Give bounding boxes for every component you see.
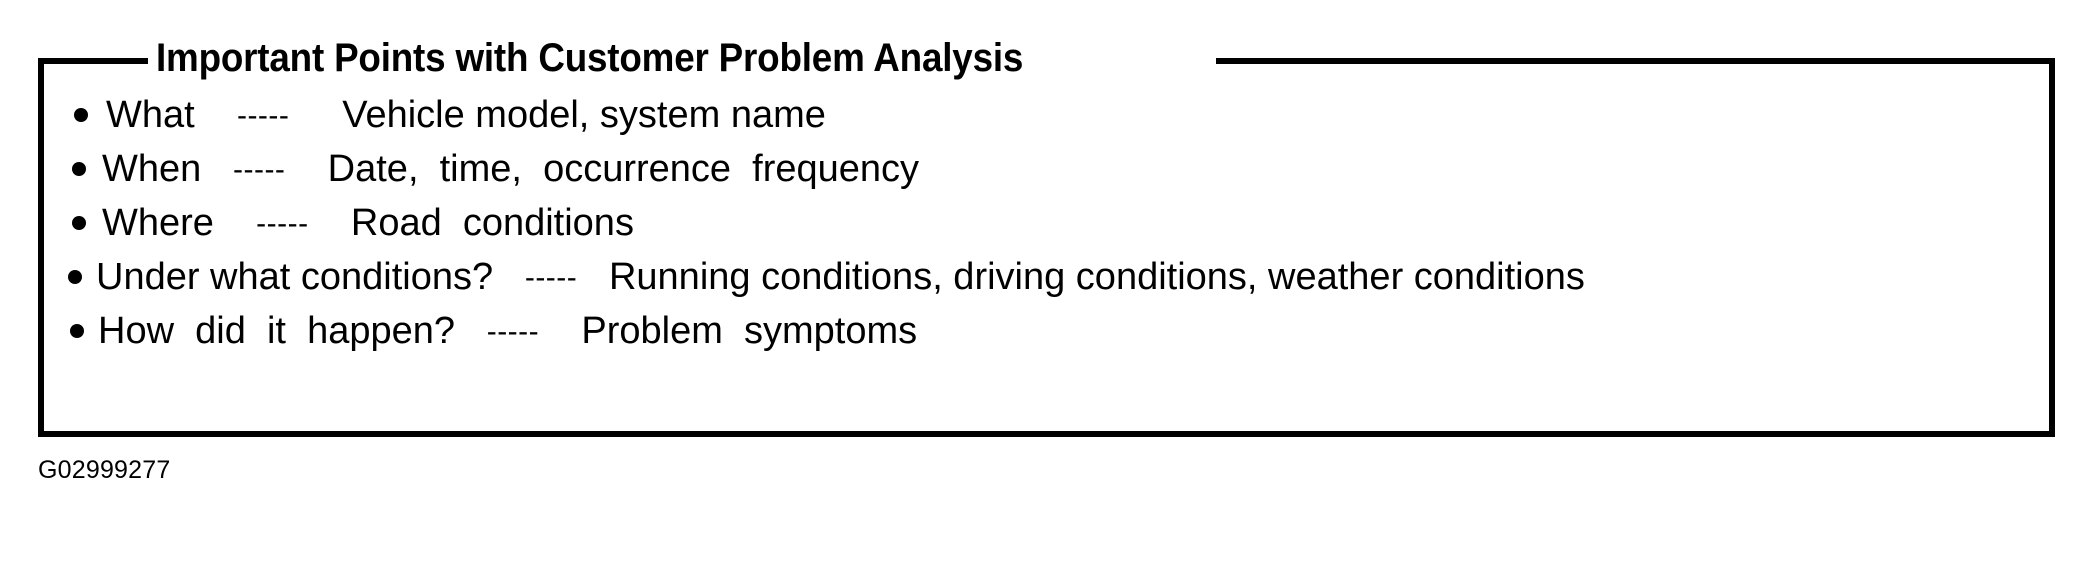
list-item: How did it happen? ----- Problem symptom… — [44, 304, 2049, 358]
point-description: Vehicle model, system name — [342, 88, 826, 142]
points-list: What ----- Vehicle model, system name Wh… — [44, 88, 2049, 358]
point-gap-before — [205, 88, 226, 142]
point-gap-before — [212, 142, 223, 196]
point-separator: ----- — [525, 251, 577, 305]
bullet-dot-icon — [68, 270, 82, 284]
point-term: Where — [44, 196, 214, 250]
bullet-dot-icon — [70, 324, 84, 338]
point-term: When — [44, 142, 201, 196]
point-gap-after — [319, 196, 340, 250]
list-item: Under what conditions? ----- Running con… — [44, 250, 2049, 304]
list-item: Where ----- Road conditions — [44, 196, 2049, 250]
panel-top-border-left-segment — [44, 58, 148, 64]
point-gap-after — [300, 88, 332, 142]
point-gap-before — [504, 250, 515, 304]
point-gap-after — [588, 250, 599, 304]
point-gap-after — [296, 142, 317, 196]
bullet-dot-icon — [72, 216, 86, 230]
point-separator: ----- — [237, 89, 289, 143]
point-separator: ----- — [256, 197, 308, 251]
point-term: What — [44, 88, 195, 142]
panel-top-border-right-segment — [1216, 58, 2049, 64]
point-gap-before — [466, 304, 477, 358]
panel-title: Important Points with Customer Problem A… — [156, 32, 1127, 84]
point-gap-after — [550, 304, 571, 358]
point-separator: ----- — [487, 305, 539, 359]
bullet-dot-icon — [72, 162, 86, 176]
figure-important-points: Important Points with Customer Problem A… — [0, 0, 2095, 561]
point-separator: ----- — [233, 143, 285, 197]
point-description: Road conditions — [351, 196, 634, 250]
point-description: Date, time, occurrence frequency — [328, 142, 919, 196]
point-description: Running conditions, driving conditions, … — [609, 250, 1585, 304]
point-term: How did it happen? — [44, 304, 455, 358]
list-item: What ----- Vehicle model, system name — [44, 88, 2049, 142]
bullet-dot-icon — [74, 108, 88, 122]
list-item: When ----- Date, time, occurrence freque… — [44, 142, 2049, 196]
figure-id-caption: G02999277 — [38, 456, 170, 485]
point-term: Under what conditions? — [44, 250, 493, 304]
point-description: Problem symptoms — [581, 304, 917, 358]
point-gap-before — [224, 196, 245, 250]
bordered-panel: Important Points with Customer Problem A… — [38, 58, 2055, 437]
